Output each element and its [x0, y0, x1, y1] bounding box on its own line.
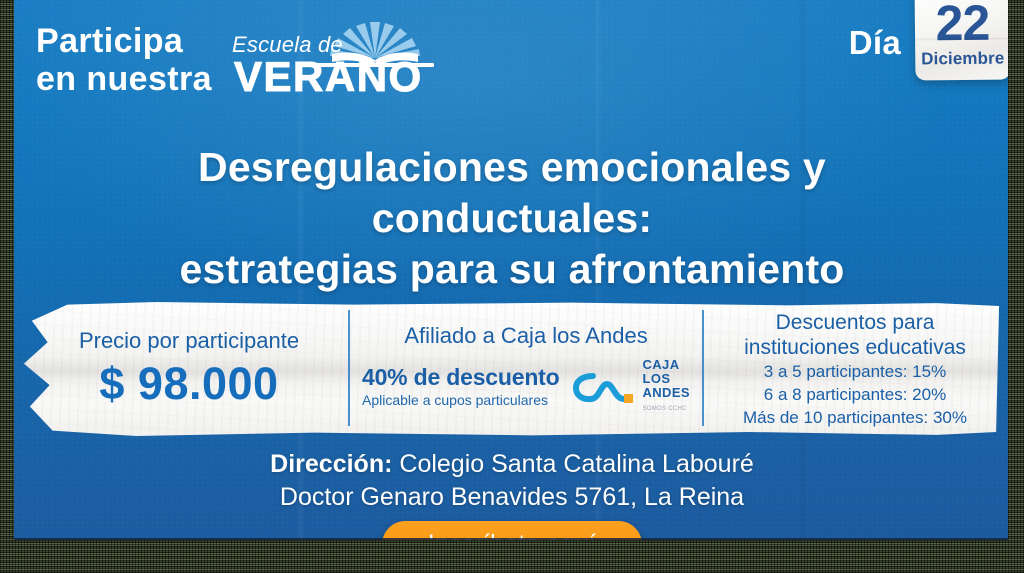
caja-los-andes-logo: CAJA LOS ANDES SOMOS CCHC — [573, 358, 690, 416]
caja-discount: 40% de descuento — [362, 365, 559, 389]
discounts-title-line-2: instituciones educativas — [744, 335, 966, 360]
caja-section: Afiliado a Caja los Andes 40% de descuen… — [350, 302, 702, 436]
discount-tier: 6 a 8 participantes: 20% — [764, 383, 946, 406]
address-venue: Colegio Santa Catalina Labouré — [392, 450, 753, 478]
caja-logo-wordmark: CAJA LOS ANDES SOMOS CCHC — [642, 358, 690, 416]
price-label: Precio por participante — [79, 328, 299, 354]
discount-tier: 3 a 5 participantes: 15% — [764, 360, 946, 383]
kicker-line-2: en nuestra — [36, 60, 212, 98]
title-line-1: Desregulaciones emocionales y — [60, 142, 964, 193]
caja-wave-mark-icon — [573, 370, 637, 404]
event-date-block: Día 22 Diciembre — [849, 0, 1010, 80]
kicker-line-1: Participa — [36, 22, 212, 60]
logo-verano-text: VERANO — [234, 56, 423, 98]
caja-label: Afiliado a Caja los Andes — [404, 323, 647, 349]
kicker-text: Participa en nuestra — [36, 22, 212, 98]
event-title: Desregulaciones emocionales y conductual… — [60, 142, 964, 295]
discount-tier: Más de 10 participantes: 30% — [743, 406, 967, 429]
banner-header: Participa en nuestra — [0, 0, 1024, 110]
address-label: Dirección: — [270, 450, 392, 478]
address-line-2: Doctor Genaro Benavides 5761, La Reina — [60, 481, 964, 514]
institutional-discounts-section: Descuentos para instituciones educativas… — [704, 302, 1006, 436]
caja-logo-line-1: CAJA — [642, 358, 690, 372]
title-line-3: estrategias para su afrontamiento — [60, 244, 964, 295]
info-panel: Precio por participante $ 98.000 Afiliad… — [18, 302, 1006, 436]
caja-logo-line-3: ANDES — [642, 386, 690, 400]
bottom-edge-artifact — [0, 540, 1024, 573]
caja-logo-line-2: LOS — [642, 372, 690, 386]
right-edge-artifact — [1008, 0, 1024, 573]
caja-logo-tagline: SOMOS CCHC — [642, 402, 690, 416]
price-value: $ 98.000 — [99, 358, 278, 410]
date-card: 22 Diciembre — [914, 0, 1010, 80]
date-month: Diciembre — [921, 48, 1004, 69]
promo-banner: Participa en nuestra — [0, 0, 1024, 573]
price-section: Precio por participante $ 98.000 — [30, 302, 348, 436]
venue-address: Dirección: Colegio Santa Catalina Labour… — [60, 448, 964, 514]
date-day: 22 — [935, 0, 989, 46]
discounts-title-line-1: Descuentos para — [776, 310, 935, 335]
address-line-1: Dirección: Colegio Santa Catalina Labour… — [60, 448, 964, 481]
title-line-2: conductuales: — [60, 193, 964, 244]
dia-label: Día — [849, 24, 901, 62]
caja-note: Aplicable a cupos particulares — [362, 392, 559, 408]
left-edge-artifact — [0, 0, 14, 573]
escuela-de-verano-logo: Escuela de VERANO — [232, 22, 432, 100]
